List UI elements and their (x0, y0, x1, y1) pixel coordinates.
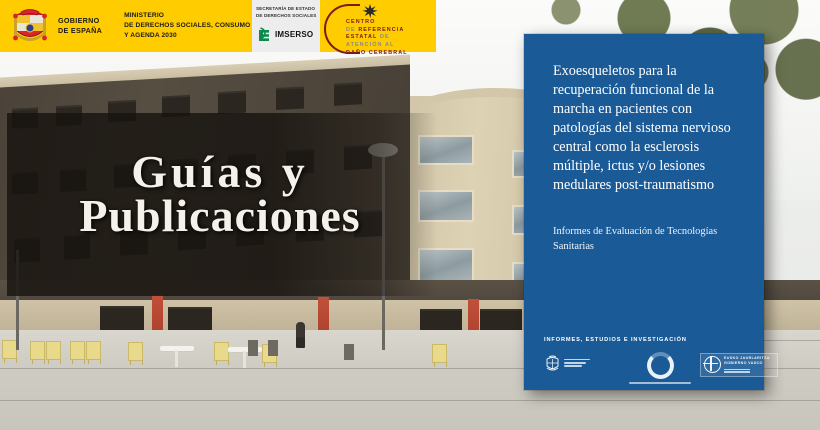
avalia-t-logo-icon (629, 352, 691, 384)
ceadac-line-5: DAÑO CEREBRAL (346, 50, 408, 56)
cover-subtitle: Informes de Evaluación de Tecnologías Sa… (553, 225, 745, 255)
government-logo-group: GOBIERNO DE ESPAÑA (0, 0, 102, 52)
publication-cover[interactable]: Exoesqueletos para la recuperación funci… (524, 34, 764, 390)
government-label-line-1: GOBIERNO (58, 16, 102, 26)
ministry-line-3: Y AGENDA 2030 (124, 31, 250, 41)
imserso-icon (257, 27, 272, 42)
eusko-jaurlaritza-logo-icon: EUSKO JAURLARITZA GOBIERNO VASCO (700, 353, 778, 377)
ministry-health-wordmark (564, 359, 590, 369)
secretariat-line-1: SECRETARÍA DE ESTADO (256, 5, 318, 12)
ceadac-line-1: CENTRO (346, 19, 375, 25)
terrace-chair (30, 341, 45, 360)
page-title-line-1: Guías y (0, 150, 440, 194)
terrace-chair (70, 341, 85, 360)
terrace-chair (86, 341, 101, 360)
imserso-label: IMSERSO (275, 30, 313, 39)
publication-banner-image: Guías y Publicaciones (0, 0, 820, 430)
ministry-line-1: MINISTERIO (124, 11, 250, 21)
ceadac-burst-icon (362, 4, 378, 18)
ceadac-line-3b: DE (380, 34, 390, 40)
page-title: Guías y Publicaciones (0, 150, 440, 238)
cover-kicker: INFORMES, ESTUDIOS E INVESTIGACIÓN (544, 337, 687, 343)
terrace-chair (2, 340, 17, 359)
waste-bin (268, 340, 278, 356)
ministry-label-group: MINISTERIO DE DERECHOS SOCIALES, CONSUMO… (102, 0, 250, 52)
person-figure (296, 322, 305, 348)
spain-coat-of-arms-icon (9, 5, 51, 47)
secretariat-panel: SECRETARÍA DE ESTADO DE DERECHOS SOCIALE… (252, 0, 320, 52)
imserso-logo-group: IMSERSO (257, 27, 313, 42)
ministry-health-logo-icon (544, 354, 590, 373)
ceadac-wordmark: CENTRO DE REFERENCIA ESTATAL DE ATENCIÓN… (346, 19, 436, 57)
institutional-banner: GOBIERNO DE ESPAÑA MINISTERIO DE DERECHO… (0, 0, 436, 52)
terrace-chair (128, 342, 143, 361)
ceadac-line-2b: REFERENCIA (358, 27, 404, 33)
waste-bin (344, 344, 354, 360)
page-title-line-2: Publicaciones (0, 194, 440, 238)
window (100, 306, 144, 332)
ministry-line-2: DE DERECHOS SOCIALES, CONSUMO (124, 21, 250, 31)
ceadac-line-4: ATENCIÓN AL (346, 42, 394, 48)
government-label: GOBIERNO DE ESPAÑA (58, 16, 102, 37)
terrace-chair (214, 342, 229, 361)
cover-logo-row: EUSKO JAURLARITZA GOBIERNO VASCO (544, 352, 749, 384)
terrace-chair (46, 341, 61, 360)
cover-title: Exoesqueletos para la recuperación funci… (553, 62, 745, 195)
terrace-chair (432, 344, 447, 363)
secretariat-line-2: DE DERECHOS SOCIALES (256, 12, 318, 19)
ceadac-line-3a: ESTATAL (346, 34, 377, 40)
government-label-line-2: DE ESPAÑA (58, 26, 102, 36)
ceadac-line-2a: DE (346, 27, 356, 33)
basque-logo-line-2: GOBIERNO VASCO (724, 361, 770, 366)
waste-bin (248, 340, 258, 356)
ceadac-logo-group: CENTRO DE REFERENCIA ESTATAL DE ATENCIÓN… (322, 2, 434, 52)
